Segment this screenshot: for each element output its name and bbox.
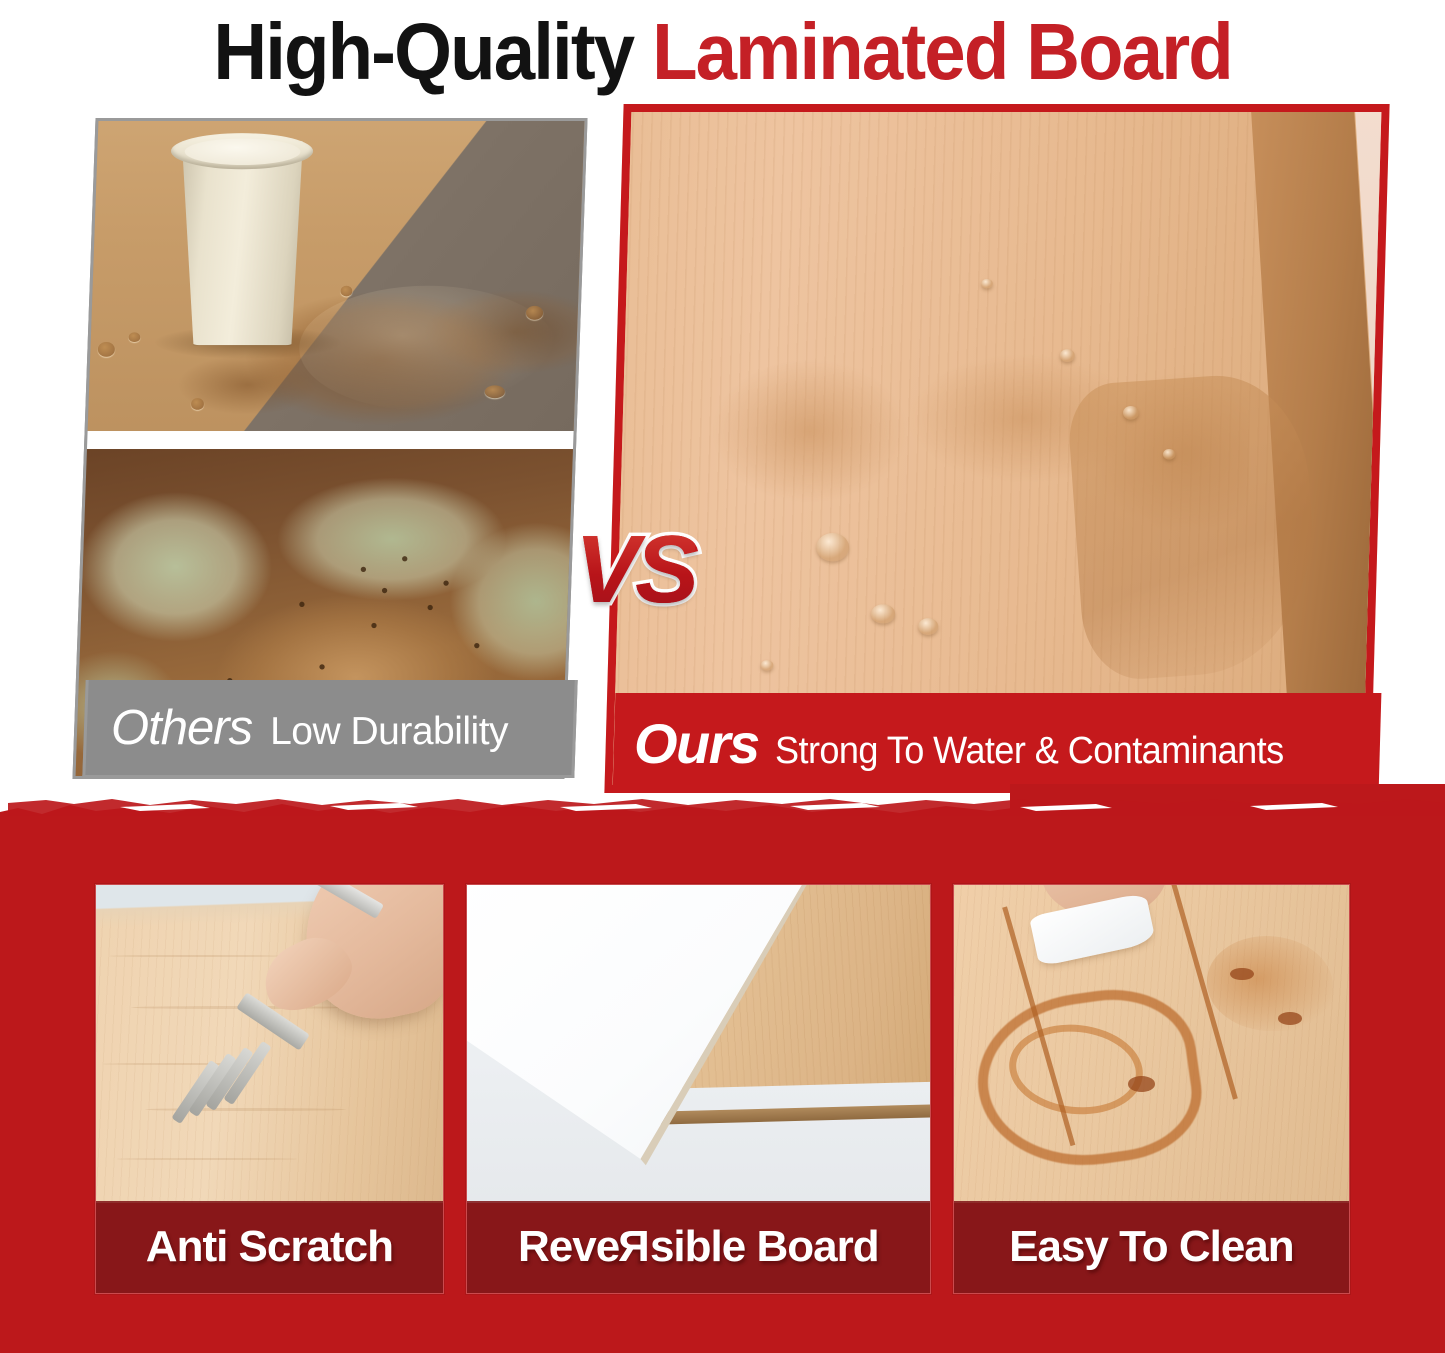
page-title: High-Quality Laminated Board — [0, 0, 1445, 104]
comparison-section: Others Low Durability Ours Strong To Wat… — [0, 104, 1445, 792]
ours-label: Ours — [634, 711, 759, 776]
torn-brush-edge — [0, 794, 1445, 838]
feature-caption-bar: Anti Scratch — [96, 1201, 443, 1293]
feature-caption: Easy To Clean — [1009, 1222, 1294, 1272]
feature-caption-bar: Easy To Clean — [954, 1201, 1349, 1293]
title-black-part: High-Quality — [213, 7, 633, 96]
vs-badge-outline: VS — [575, 522, 695, 618]
feature-card-easy-to-clean: Easy To Clean — [953, 884, 1350, 1294]
title-red-part: Laminated Board — [633, 7, 1232, 96]
photo-divider — [72, 431, 587, 449]
caption-mirrored-letter: R — [619, 1222, 650, 1272]
caption-pre: Reve — [518, 1222, 619, 1271]
photo-anti-scratch — [96, 885, 443, 1203]
others-sublabel: Low Durability — [270, 710, 508, 754]
feature-caption: Anti Scratch — [146, 1222, 393, 1272]
others-label-bar: Others Low Durability — [82, 680, 577, 778]
feature-card-reversible-board: ReveRsible Board — [466, 884, 931, 1294]
caption-post: sible Board — [650, 1222, 879, 1271]
feature-caption: ReveRsible Board — [518, 1222, 879, 1272]
feature-card-anti-scratch: Anti Scratch — [95, 884, 444, 1294]
paper-cup — [178, 141, 307, 345]
ours-sublabel: Strong To Water & Contaminants — [775, 730, 1284, 773]
feature-cards: Anti Scratch ReveRsible Board — [0, 884, 1445, 1294]
photo-reversible-board — [467, 885, 930, 1203]
ours-panel — [604, 104, 1389, 793]
photo-easy-to-clean — [954, 885, 1349, 1203]
photo-coffee-spill — [72, 118, 587, 431]
feature-caption-bar: ReveRsible Board — [467, 1201, 930, 1293]
others-label: Others — [111, 700, 252, 756]
features-band: Anti Scratch ReveRsible Board — [0, 828, 1445, 1353]
ours-label-bar: Ours Strong To Water & Contaminants — [613, 693, 1382, 793]
